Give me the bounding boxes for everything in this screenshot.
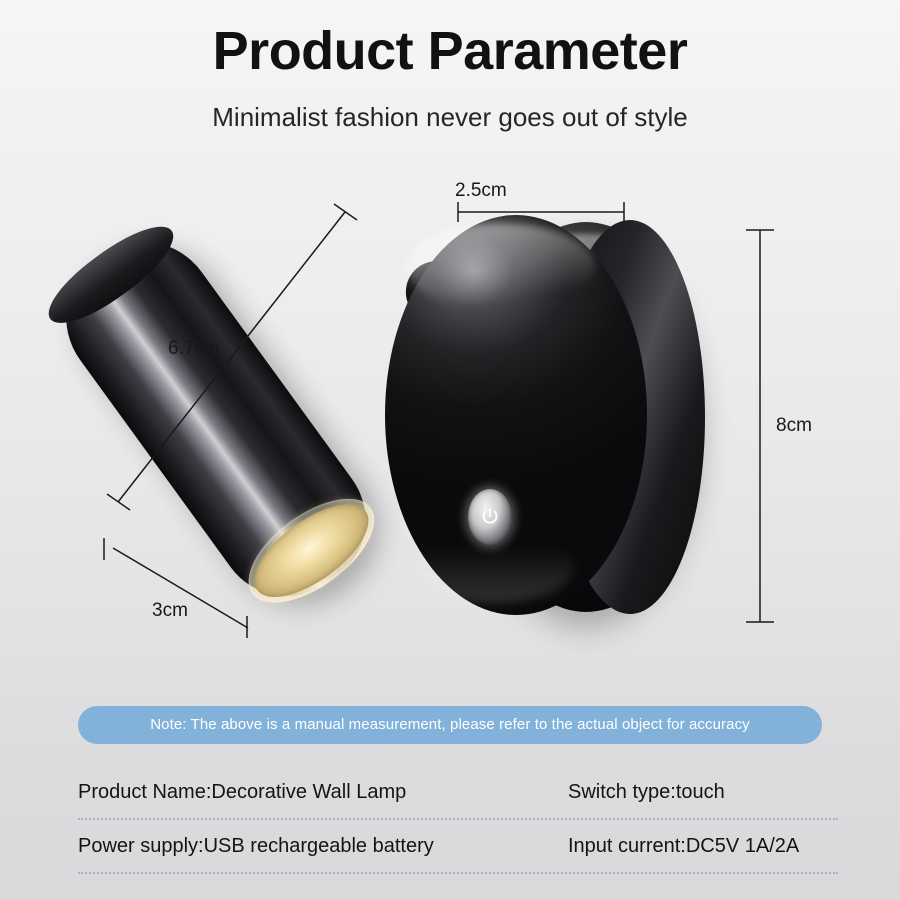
lamp-base-front <box>385 215 647 615</box>
dimension-label-head-diameter: 3cm <box>152 600 188 622</box>
table-row: Product Name:Decorative Wall Lamp Switch… <box>78 766 838 820</box>
dimension-label-head-length: 6.7cm <box>168 338 220 360</box>
table-row: Power supply:USB rechargeable battery In… <box>78 820 838 874</box>
product-parameter-page: Product Parameter Minimalist fashion nev… <box>0 0 900 900</box>
measurement-note-banner: Note: The above is a manual measurement,… <box>78 706 822 744</box>
spec-switch-type: Switch type:touch <box>568 779 838 805</box>
spec-product-name: Product Name:Decorative Wall Lamp <box>78 779 568 805</box>
product-illustration: 2.5cm 6.7cm 8cm 3cm <box>0 150 900 680</box>
spec-table: Product Name:Decorative Wall Lamp Switch… <box>78 766 838 874</box>
spec-power-supply: Power supply:USB rechargeable battery <box>78 833 568 859</box>
page-subtitle: Minimalist fashion never goes out of sty… <box>0 100 900 134</box>
lamp-head <box>37 212 393 624</box>
spec-input-current: Input current:DC5V 1A/2A <box>568 833 838 859</box>
page-title: Product Parameter <box>0 20 900 82</box>
power-icon[interactable] <box>468 489 512 545</box>
dimension-label-base-height: 8cm <box>776 415 812 437</box>
dimension-label-width-top: 2.5cm <box>455 180 507 202</box>
